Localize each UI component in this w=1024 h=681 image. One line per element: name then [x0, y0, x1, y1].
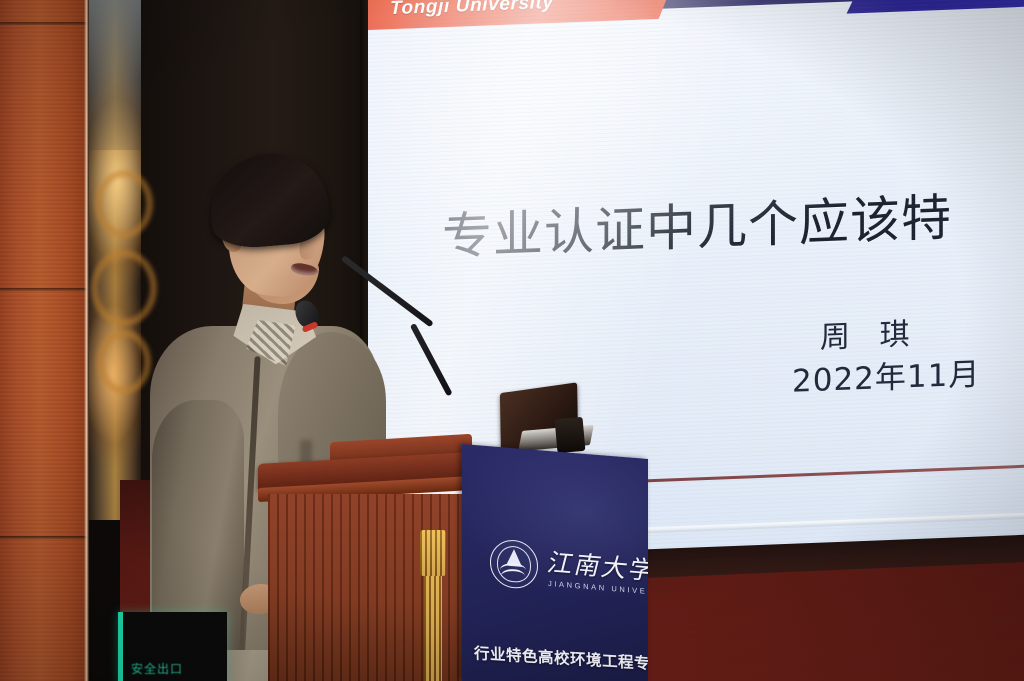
- wood-seam: [0, 536, 88, 539]
- slide-band-blue: [847, 0, 1024, 14]
- slide-title: 专业认证中几个应该特: [442, 192, 952, 264]
- wood-wall-panel: [0, 0, 88, 681]
- wood-edge-highlight: [84, 0, 89, 681]
- podium-sign-panel: 江南大学 JIANGNAN UNIVERSITY 行业特色高校环境工程专业发展: [462, 444, 648, 681]
- slide-date: 2022年11月: [792, 348, 980, 400]
- podium-gold-capital: [420, 530, 446, 576]
- podium-gold-column: [424, 576, 442, 681]
- exit-sign-label: 安全出口: [131, 660, 183, 677]
- exit-sign: 安全出口: [118, 612, 227, 681]
- laptop-hinge: [555, 417, 586, 453]
- slide-presenter-name: 周 琪: [820, 309, 920, 357]
- presentation-photo-scene: Tongji University 专业认证中几个应该特 周 琪 2022年11…: [0, 0, 1024, 681]
- speaker-hair: [206, 149, 332, 251]
- wood-seam: [0, 22, 88, 25]
- wood-seam: [0, 288, 88, 291]
- column-top-shade: [89, 0, 141, 150]
